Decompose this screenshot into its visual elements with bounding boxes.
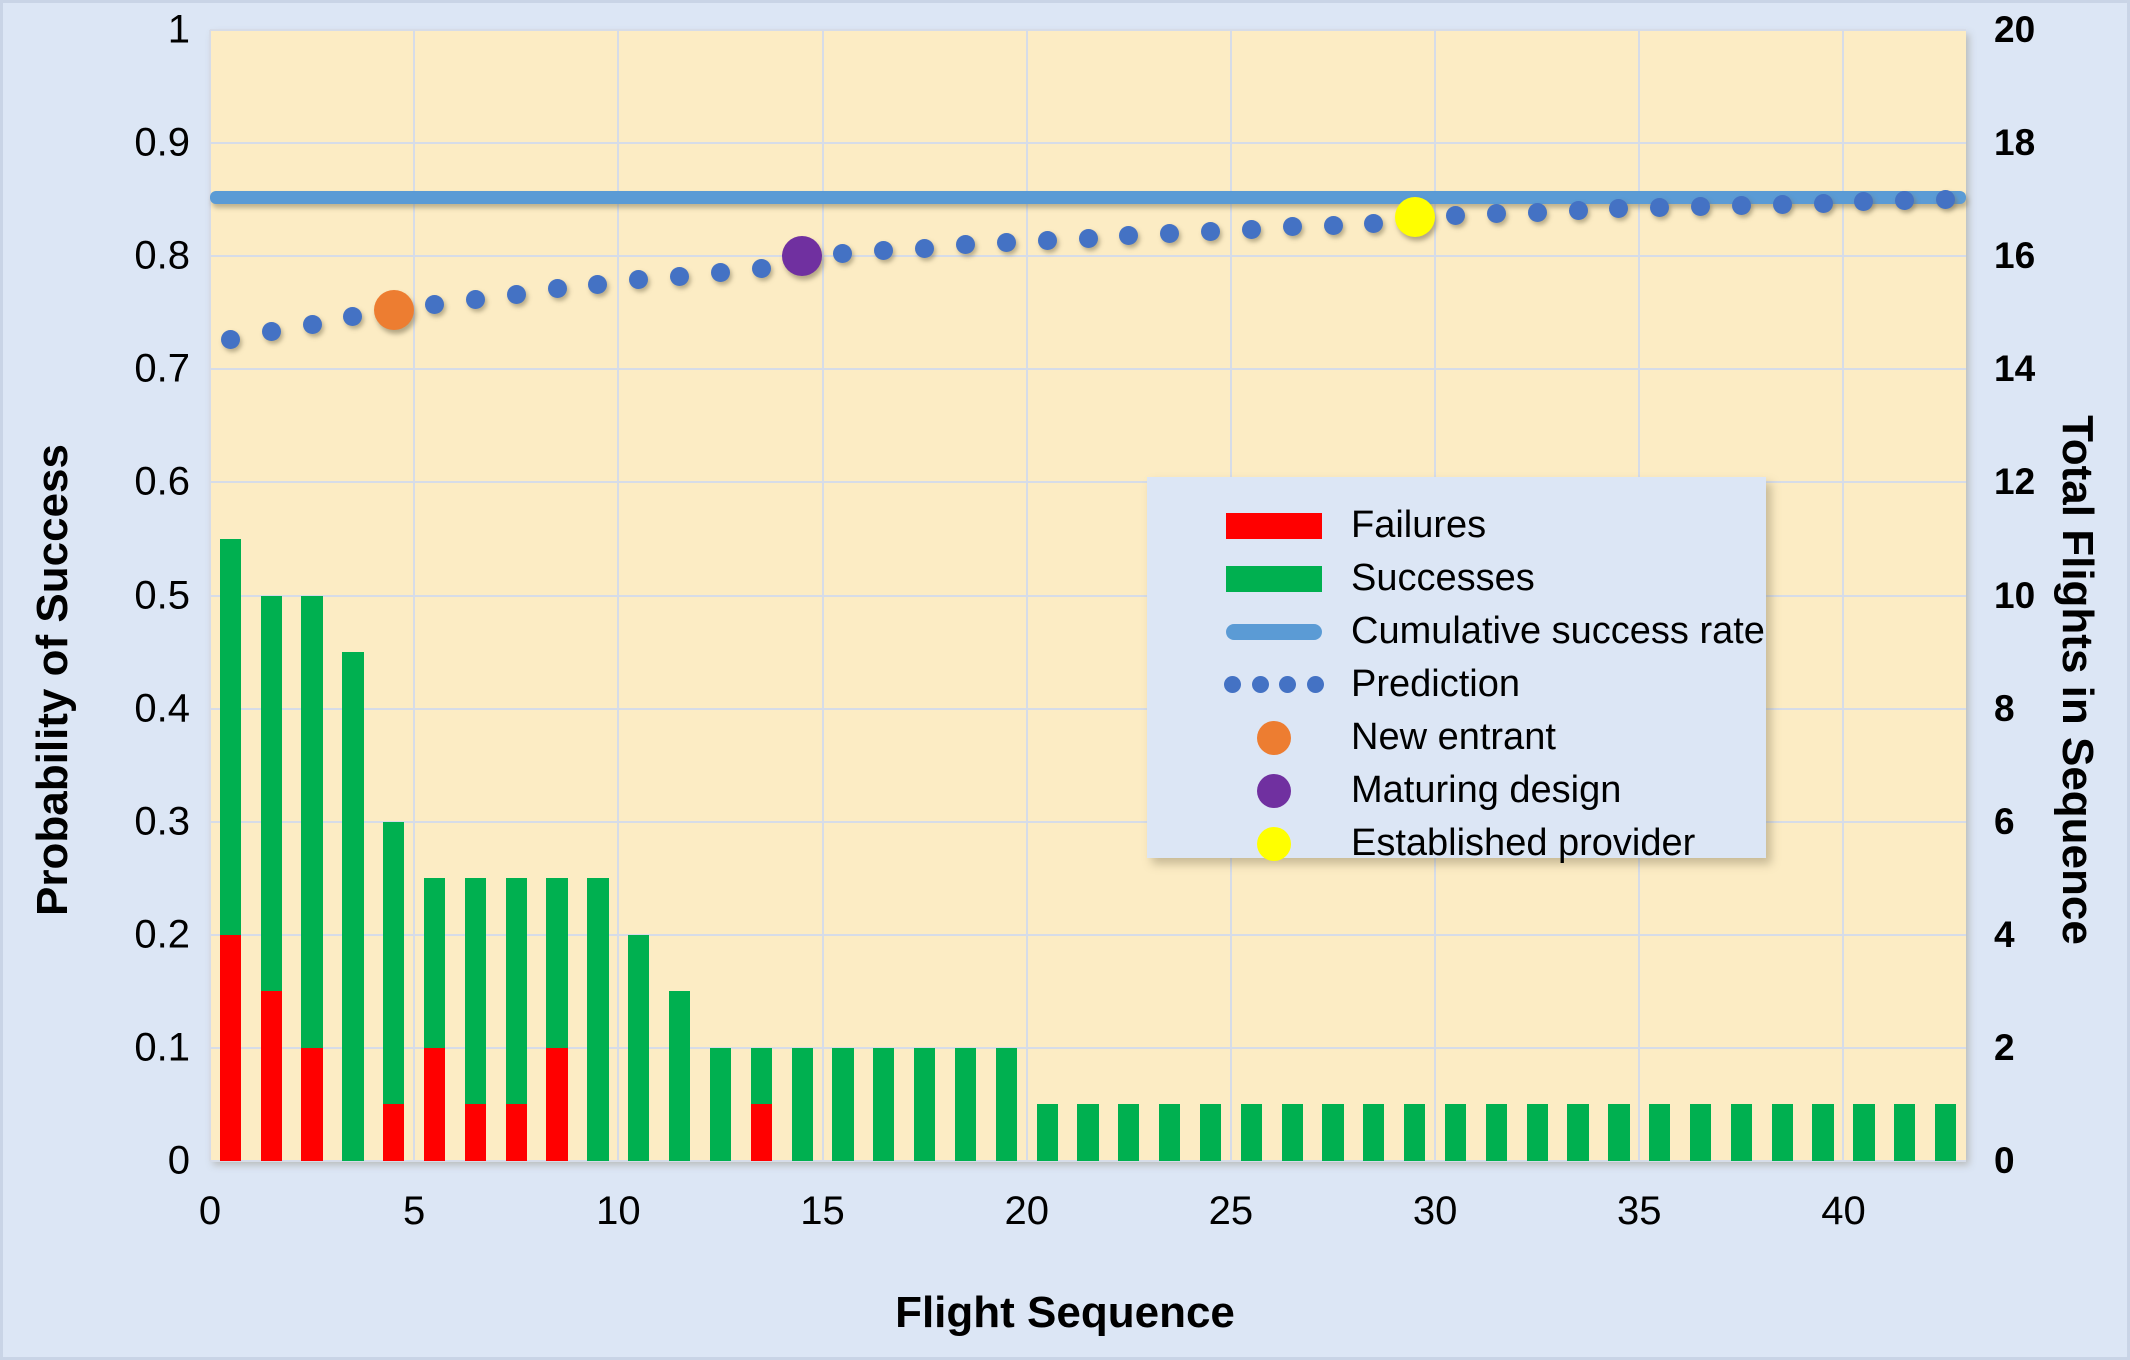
- bar-flight-10: [587, 878, 608, 1161]
- x-tick-25: 25: [1171, 1189, 1291, 1234]
- bar-segment-successes: [1527, 1104, 1548, 1161]
- bar-segment-successes: [1486, 1104, 1507, 1161]
- prediction-dot: [303, 315, 322, 334]
- bar-segment-failures: [465, 1104, 486, 1161]
- prediction-dot: [833, 244, 852, 263]
- chart-legend: FailuresSuccessesCumulative success rate…: [1147, 477, 1766, 858]
- bar-segment-successes: [301, 596, 322, 1048]
- y-tick-right-18: 18: [1994, 122, 2084, 164]
- bar-segment-successes: [1608, 1104, 1629, 1161]
- prediction-dot: [1487, 204, 1506, 223]
- bar-flight-31: [1445, 1104, 1466, 1161]
- bar-flight-35: [1608, 1104, 1629, 1161]
- prediction-dot: [1038, 231, 1057, 250]
- bar-segment-successes: [792, 1048, 813, 1161]
- bar-segment-successes: [546, 878, 567, 1048]
- bar-flight-24: [1159, 1104, 1180, 1161]
- prediction-dot: [1814, 194, 1833, 213]
- bar-flight-37: [1690, 1104, 1711, 1161]
- bar-flight-23: [1118, 1104, 1139, 1161]
- prediction-dot: [752, 259, 771, 278]
- bar-segment-successes: [1812, 1104, 1833, 1161]
- bar-flight-3: [301, 596, 322, 1162]
- y-tick-left-0.8: 0.8: [70, 234, 190, 279]
- bar-segment-successes: [1037, 1104, 1058, 1161]
- prediction-dot: [221, 330, 240, 349]
- prediction-dot: [1283, 217, 1302, 236]
- bar-segment-successes: [996, 1048, 1017, 1161]
- prediction-dot: [1446, 206, 1465, 225]
- bar-flight-16: [832, 1048, 853, 1161]
- prediction-dot: [1528, 203, 1547, 222]
- prediction-dot: [1895, 191, 1914, 210]
- x-tick-15: 15: [763, 1189, 883, 1234]
- bar-segment-successes: [669, 991, 690, 1161]
- bar-flight-1: [220, 539, 241, 1161]
- legend-swatch-dot: [1257, 827, 1291, 861]
- legend-label: Cumulative success rate: [1351, 610, 1765, 653]
- bar-flight-5: [383, 822, 404, 1161]
- bar-flight-8: [506, 878, 527, 1161]
- prediction-dot: [1691, 197, 1710, 216]
- x-tick-20: 20: [967, 1189, 1087, 1234]
- bar-flight-26: [1241, 1104, 1262, 1161]
- bar-segment-successes: [1731, 1104, 1752, 1161]
- bar-segment-successes: [1241, 1104, 1262, 1161]
- bar-flight-6: [424, 878, 445, 1161]
- y-axis-right-title: Total Flights in Sequence: [2052, 300, 2102, 1060]
- bar-segment-successes: [628, 935, 649, 1161]
- legend-item-established-provider[interactable]: Established provider: [1147, 817, 1766, 870]
- prediction-dot: [262, 322, 281, 341]
- gridline-horizontal: [210, 368, 1966, 370]
- bar-flight-40: [1812, 1104, 1833, 1161]
- bar-segment-successes: [751, 1048, 772, 1105]
- bar-flight-22: [1077, 1104, 1098, 1161]
- bar-flight-4: [342, 652, 363, 1161]
- bar-segment-successes: [1200, 1104, 1221, 1161]
- y-tick-left-0.3: 0.3: [70, 799, 190, 844]
- bar-flight-19: [955, 1048, 976, 1161]
- legend-swatch-rect: [1226, 513, 1322, 539]
- prediction-dot: [1364, 214, 1383, 233]
- bar-segment-successes: [1690, 1104, 1711, 1161]
- bar-segment-successes: [1159, 1104, 1180, 1161]
- legend-label: Successes: [1351, 557, 1535, 600]
- prediction-dot: [343, 307, 362, 326]
- y-tick-left-0.1: 0.1: [70, 1025, 190, 1070]
- bar-segment-failures: [546, 1048, 567, 1161]
- bar-segment-successes: [587, 878, 608, 1161]
- bar-flight-25: [1200, 1104, 1221, 1161]
- chart-figure: FailuresSuccessesCumulative success rate…: [0, 0, 2130, 1360]
- bar-flight-15: [792, 1048, 813, 1161]
- prediction-dot: [1732, 196, 1751, 215]
- legend-swatch-rect: [1226, 566, 1322, 592]
- bar-segment-successes: [383, 822, 404, 1105]
- bar-flight-42: [1894, 1104, 1915, 1161]
- y-tick-left-0: 0: [70, 1139, 190, 1184]
- prediction-dot: [997, 233, 1016, 252]
- bar-segment-successes: [1853, 1104, 1874, 1161]
- bar-flight-38: [1731, 1104, 1752, 1161]
- legend-swatch-dot: [1257, 774, 1291, 808]
- prediction-dot: [915, 239, 934, 258]
- legend-swatch-line: [1226, 624, 1322, 640]
- y-tick-left-0.6: 0.6: [70, 460, 190, 505]
- bar-segment-failures: [301, 1048, 322, 1161]
- prediction-dot: [1936, 190, 1955, 209]
- legend-label: Prediction: [1351, 663, 1520, 706]
- bar-flight-43: [1935, 1104, 1956, 1161]
- legend-swatch-dot: [1257, 721, 1291, 755]
- prediction-dot: [1119, 226, 1138, 245]
- bar-segment-successes: [1322, 1104, 1343, 1161]
- bar-segment-failures: [751, 1104, 772, 1161]
- bar-flight-20: [996, 1048, 1017, 1161]
- x-axis-title: Flight Sequence: [3, 1288, 2127, 1338]
- bar-flight-17: [873, 1048, 894, 1161]
- prediction-dot: [466, 290, 485, 309]
- legend-swatch-dots: [1224, 676, 1324, 693]
- gridline-horizontal: [210, 142, 1966, 144]
- x-tick-0: 0: [150, 1189, 270, 1234]
- bar-segment-successes: [261, 596, 282, 992]
- prediction-dot: [956, 235, 975, 254]
- x-tick-10: 10: [558, 1189, 678, 1234]
- legend-item-failures[interactable]: Failures: [1147, 499, 1766, 552]
- bar-segment-successes: [1894, 1104, 1915, 1161]
- prediction-dot: [670, 267, 689, 286]
- x-tick-30: 30: [1375, 1189, 1495, 1234]
- y-tick-left-0.2: 0.2: [70, 912, 190, 957]
- x-tick-40: 40: [1783, 1189, 1903, 1234]
- prediction-dot: [1650, 198, 1669, 217]
- bar-segment-successes: [914, 1048, 935, 1161]
- x-tick-5: 5: [354, 1189, 474, 1234]
- bar-segment-successes: [1445, 1104, 1466, 1161]
- bar-segment-successes: [1567, 1104, 1588, 1161]
- bar-segment-successes: [1772, 1104, 1793, 1161]
- bar-segment-successes: [1404, 1104, 1425, 1161]
- prediction-dot: [425, 295, 444, 314]
- y-tick-left-1: 1: [70, 8, 190, 53]
- marker-established-provider: [1395, 197, 1435, 237]
- bar-flight-12: [669, 991, 690, 1161]
- prediction-dot: [1079, 229, 1098, 248]
- y-tick-left-0.5: 0.5: [70, 573, 190, 618]
- bar-flight-14: [751, 1048, 772, 1161]
- bar-segment-successes: [424, 878, 445, 1048]
- bar-flight-29: [1363, 1104, 1384, 1161]
- bar-flight-30: [1404, 1104, 1425, 1161]
- prediction-dot: [548, 279, 567, 298]
- prediction-dot: [629, 270, 648, 289]
- prediction-dot: [1609, 199, 1628, 218]
- bar-segment-successes: [1649, 1104, 1670, 1161]
- legend-item-new-entrant[interactable]: New entrant: [1147, 711, 1766, 764]
- legend-label: Established provider: [1351, 822, 1695, 865]
- y-tick-left-0.4: 0.4: [70, 686, 190, 731]
- bar-segment-successes: [1282, 1104, 1303, 1161]
- gridline-horizontal: [210, 29, 1966, 31]
- bar-segment-successes: [1118, 1104, 1139, 1161]
- bar-segment-successes: [465, 878, 486, 1104]
- marker-maturing-design: [782, 236, 822, 276]
- prediction-dot: [1324, 216, 1343, 235]
- bar-flight-2: [261, 596, 282, 1162]
- bar-segment-successes: [1363, 1104, 1384, 1161]
- bar-flight-11: [628, 935, 649, 1161]
- bar-segment-successes: [220, 539, 241, 935]
- bar-segment-failures: [261, 991, 282, 1161]
- y-axis-left-title: Probability of Success: [28, 300, 78, 1060]
- prediction-dot: [1569, 201, 1588, 220]
- legend-label: Failures: [1351, 504, 1486, 547]
- bar-flight-34: [1567, 1104, 1588, 1161]
- prediction-dot: [1773, 195, 1792, 214]
- legend-item-cumulative-success-rate[interactable]: Cumulative success rate: [1147, 605, 1766, 658]
- bar-segment-successes: [710, 1048, 731, 1161]
- bar-segment-failures: [220, 935, 241, 1161]
- bar-flight-13: [710, 1048, 731, 1161]
- bar-segment-successes: [873, 1048, 894, 1161]
- legend-item-prediction[interactable]: Prediction: [1147, 658, 1766, 711]
- bar-segment-successes: [832, 1048, 853, 1161]
- y-tick-right-0: 0: [1994, 1140, 2084, 1182]
- prediction-dot: [588, 275, 607, 294]
- bar-flight-32: [1486, 1104, 1507, 1161]
- bar-flight-27: [1282, 1104, 1303, 1161]
- bar-flight-9: [546, 878, 567, 1161]
- prediction-dot: [1201, 222, 1220, 241]
- y-tick-right-16: 16: [1994, 235, 2084, 277]
- legend-item-maturing-design[interactable]: Maturing design: [1147, 764, 1766, 817]
- bar-flight-7: [465, 878, 486, 1161]
- prediction-dot: [1160, 224, 1179, 243]
- legend-label: New entrant: [1351, 716, 1556, 759]
- legend-item-successes[interactable]: Successes: [1147, 552, 1766, 605]
- bar-flight-36: [1649, 1104, 1670, 1161]
- bar-segment-failures: [506, 1104, 527, 1161]
- bar-flight-33: [1527, 1104, 1548, 1161]
- prediction-dot: [1242, 220, 1261, 239]
- marker-new-entrant: [374, 290, 414, 330]
- y-tick-right-20: 20: [1994, 9, 2084, 51]
- prediction-dot: [1854, 192, 1873, 211]
- bar-flight-41: [1853, 1104, 1874, 1161]
- prediction-dot: [711, 263, 730, 282]
- gridline-horizontal: [210, 255, 1966, 257]
- prediction-dot: [507, 285, 526, 304]
- plot-area: FailuresSuccessesCumulative success rate…: [210, 30, 1966, 1161]
- y-tick-left-0.9: 0.9: [70, 121, 190, 166]
- bar-segment-successes: [955, 1048, 976, 1161]
- bar-segment-failures: [383, 1104, 404, 1161]
- bar-flight-21: [1037, 1104, 1058, 1161]
- y-tick-left-0.7: 0.7: [70, 347, 190, 392]
- legend-label: Maturing design: [1351, 769, 1621, 812]
- bar-segment-successes: [342, 652, 363, 1161]
- bar-flight-39: [1772, 1104, 1793, 1161]
- bar-segment-successes: [1077, 1104, 1098, 1161]
- bar-segment-successes: [1935, 1104, 1956, 1161]
- x-tick-35: 35: [1579, 1189, 1699, 1234]
- bar-flight-28: [1322, 1104, 1343, 1161]
- bar-segment-successes: [506, 878, 527, 1104]
- bar-segment-failures: [424, 1048, 445, 1161]
- bar-flight-18: [914, 1048, 935, 1161]
